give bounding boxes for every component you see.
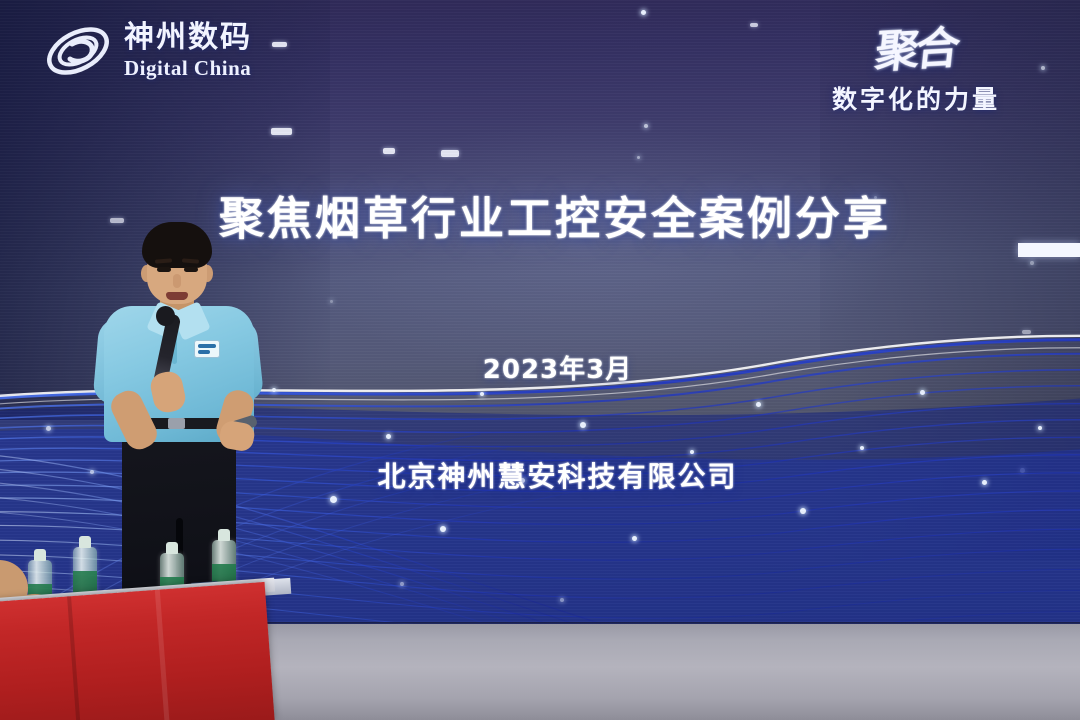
speaker-eye-left: [157, 267, 171, 272]
screenshot-root: 神州数码 Digital China 聚合 数字化的力量 聚焦烟草行业工控安全案…: [0, 0, 1080, 720]
speaker-belt-buckle: [168, 418, 185, 429]
speaker-presenter: [96, 222, 276, 632]
brand-name-cn: 神州数码: [124, 23, 252, 53]
brand-name-en: Digital China: [124, 58, 252, 79]
microphone-head: [156, 306, 175, 326]
speaker-nose: [173, 274, 181, 288]
brand-logo: 神州数码 Digital China: [42, 20, 252, 82]
speaker-eye-right: [184, 267, 198, 272]
company-badge-icon: [194, 340, 220, 358]
swirl-logo-icon: [42, 20, 114, 82]
slogan-calligraphy: 聚合: [872, 12, 959, 80]
speaker-mouth: [166, 292, 188, 300]
red-table-skirt: [0, 582, 275, 720]
event-slogan: 聚合 数字化的力量: [776, 14, 1056, 116]
slogan-subtitle: 数字化的力量: [776, 80, 1056, 116]
speaker-hair: [142, 222, 212, 268]
